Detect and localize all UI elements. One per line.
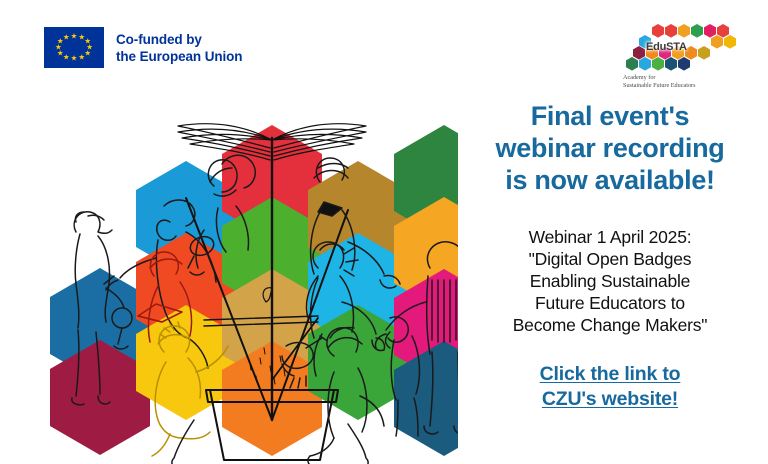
headline-line1: Final event's	[462, 100, 758, 132]
headline-line3: is now available!	[462, 164, 758, 196]
hexagon-grid	[50, 125, 458, 456]
eu-text-line1: Co-funded by	[116, 31, 242, 48]
eu-flag-icon: ★ ★ ★ ★ ★ ★ ★ ★ ★ ★ ★ ★	[44, 27, 104, 68]
webinar-title-line4: Become Change Makers"	[462, 314, 758, 336]
edusta-wordmark: EduSTA	[646, 41, 687, 53]
edusta-tagline-line1: Academy for	[623, 74, 696, 82]
headline-line2: webinar recording	[462, 132, 758, 164]
webinar-date-line: Webinar 1 April 2025:	[462, 226, 758, 248]
cta-line2[interactable]: CZU's website!	[542, 388, 678, 410]
edusta-tagline: Academy for Sustainable Future Educators	[623, 74, 696, 90]
edusta-logo: EduSTA Academy for Sustainable Future Ed…	[620, 24, 740, 96]
webinar-title-line3: Future Educators to	[462, 292, 758, 314]
webinar-title-line1: "Digital Open Badges	[462, 248, 758, 270]
poster-canvas: ★ ★ ★ ★ ★ ★ ★ ★ ★ ★ ★ ★ Co-funded by the…	[0, 0, 768, 464]
eu-cofunding-text: Co-funded by the European Union	[116, 31, 242, 65]
webinar-description: Webinar 1 April 2025: "Digital Open Badg…	[462, 226, 758, 336]
eu-cofunding-logo: ★ ★ ★ ★ ★ ★ ★ ★ ★ ★ ★ ★ Co-funded by the…	[44, 27, 242, 68]
edusta-tagline-line2: Sustainable Future Educators	[623, 82, 696, 90]
page-title: Final event's webinar recording is now a…	[462, 100, 758, 196]
hexagon-people-growing-plant-illustration	[18, 90, 458, 464]
eu-text-line2: the European Union	[116, 48, 242, 65]
cta-line1[interactable]: Click the link to	[540, 363, 681, 385]
czu-website-link[interactable]: Click the link to CZU's website!	[462, 362, 758, 412]
eu-stars-circle: ★ ★ ★ ★ ★ ★ ★ ★ ★ ★ ★ ★	[44, 27, 104, 68]
announcement-panel: Final event's webinar recording is now a…	[462, 100, 758, 412]
webinar-title-line2: Enabling Sustainable	[462, 270, 758, 292]
